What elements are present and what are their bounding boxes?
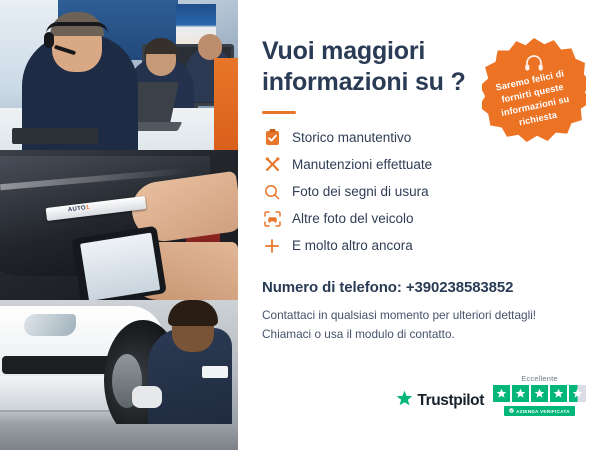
trustpilot-name: Trustpilot (417, 392, 484, 410)
photo-call-center (0, 0, 238, 150)
list-item-label: Storico manutentivo (292, 130, 411, 145)
star-filled (550, 385, 567, 402)
mechanic-glove (132, 386, 162, 408)
mechanic-hair (168, 300, 218, 326)
contact-line-2: Chiamaci o usa il modulo di contatto. (262, 325, 600, 344)
list-item-label: Altre foto del veicolo (292, 211, 414, 226)
photo-collage: AUTO1 (0, 0, 238, 450)
trustpilot-logo: Trustpilot (396, 390, 484, 416)
contact-description: Contattaci in qualsiasi momento per ulte… (262, 306, 600, 344)
star-rating (493, 385, 586, 402)
tablet-screen (80, 233, 160, 300)
inspection-tablet (71, 226, 167, 300)
advertisement-banner: AUTO1 Vuoi maggiori informazioni su ? (0, 0, 600, 450)
list-item: Manutenzioni effettuate (262, 151, 600, 178)
info-panel: Vuoi maggiori informazioni su ? Storico … (238, 0, 600, 450)
list-item: Altre foto del veicolo (262, 205, 600, 232)
phone-number[interactable]: Numero di telefono: +390238583852 (262, 279, 600, 296)
list-item: Foto dei segni di usura (262, 178, 600, 205)
orange-panel (214, 58, 238, 150)
page-title: Vuoi maggiori informazioni su ? (262, 36, 472, 97)
clipboard-check-icon (262, 128, 282, 148)
star-filled (493, 385, 510, 402)
magnifier-icon (262, 182, 282, 202)
workshop-floor (0, 424, 238, 450)
callout-badge: Saremo felici di fornirti queste informa… (482, 38, 586, 142)
check-circle-icon (509, 408, 514, 414)
list-item-label: Foto dei segni di usura (292, 184, 429, 199)
contact-line-1: Contattaci in qualsiasi momento per ulte… (262, 306, 600, 325)
background-worker-2-head (198, 34, 222, 60)
list-item-label: E molto altro ancora (292, 238, 413, 253)
title-divider (262, 111, 296, 114)
uniform-patch (202, 366, 228, 378)
headset-band (46, 22, 108, 34)
feature-list: Storico manutentivo Manutenzioni effettu… (262, 124, 600, 259)
star-filled (531, 385, 548, 402)
list-item-label: Manutenzioni effettuate (292, 157, 432, 172)
rating-label: Eccellente (521, 374, 558, 383)
photo-wheel-inspection (0, 300, 238, 450)
crossed-tools-icon (262, 155, 282, 175)
photo-body-inspection: AUTO1 (0, 150, 238, 300)
verified-label: AZIENDA VERIFICATA (516, 409, 570, 414)
star-half (569, 385, 586, 402)
plus-icon (262, 236, 282, 256)
trustpilot-rating-block: Eccellente AZIENDA VERIFICATA (493, 374, 586, 416)
car-scan-icon (262, 209, 282, 229)
keyboard (12, 128, 98, 144)
verified-company-badge: AZIENDA VERIFICATA (504, 406, 575, 416)
trustpilot-widget[interactable]: Trustpilot Eccellente AZIENDA VERIFICATA (396, 374, 586, 416)
list-item: E molto altro ancora (262, 232, 600, 259)
headset-earcup (44, 32, 54, 48)
trustpilot-star-icon (396, 390, 413, 412)
star-filled (512, 385, 529, 402)
headlight (24, 314, 76, 336)
